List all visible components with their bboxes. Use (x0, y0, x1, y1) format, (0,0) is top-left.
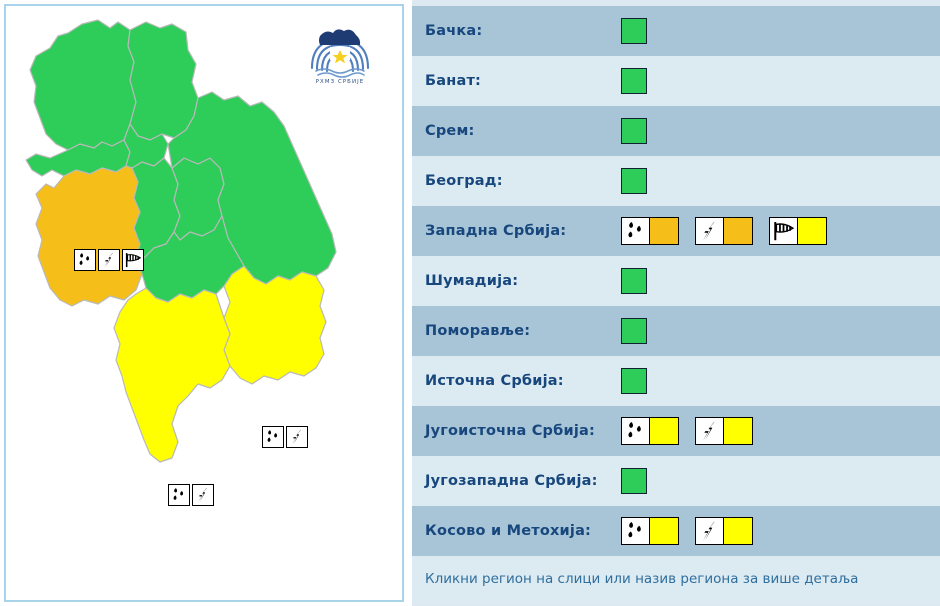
status-badge-no-warning (621, 168, 647, 194)
warning-cells (621, 168, 647, 194)
region-link-западна-србија[interactable]: Западна Србија: (425, 223, 621, 239)
legend-row[interactable]: Шумадија: (412, 256, 940, 306)
legend-row[interactable]: Југоисточна Србија: (412, 406, 940, 456)
warning-cells (621, 217, 827, 245)
warning-badge (621, 217, 679, 245)
region-link-југоисточна-србија[interactable]: Југоисточна Србија: (425, 423, 621, 439)
region-link-срем[interactable]: Срем: (425, 123, 621, 139)
map-region-kosovo[interactable] (114, 288, 230, 462)
thunderstorm-icon (192, 484, 214, 506)
serbia-map[interactable] (6, 6, 402, 600)
warning-level-swatch (650, 518, 678, 544)
legend-row[interactable]: Западна Србија: (412, 206, 940, 256)
warning-level-swatch (650, 218, 678, 244)
warning-cells (621, 68, 647, 94)
region-link-поморавље[interactable]: Поморавље: (425, 323, 621, 339)
rain-icon (262, 426, 284, 448)
status-badge-no-warning (621, 468, 647, 494)
legend-row[interactable]: Банат: (412, 56, 940, 106)
region-link-београд[interactable]: Београд: (425, 173, 621, 189)
legend-row[interactable]: Југозападна Србија: (412, 456, 940, 506)
wind-icon (770, 218, 798, 244)
legend-row[interactable]: Бачка: (412, 6, 940, 56)
status-badge-no-warning (621, 368, 647, 394)
rain-icon (168, 484, 190, 506)
legend-row[interactable]: Косово и Метохија: (412, 506, 940, 556)
rain-icon (74, 249, 96, 271)
region-link-бачка[interactable]: Бачка: (425, 23, 621, 39)
wind-icon (122, 249, 144, 271)
warning-level-swatch (724, 218, 752, 244)
warning-badge (695, 517, 753, 545)
svg-text:РХМЗ СРБИЈЕ: РХМЗ СРБИЈЕ (316, 79, 365, 85)
warning-badge (621, 517, 679, 545)
region-link-шумадија[interactable]: Шумадија: (425, 273, 621, 289)
region-link-источна-србија[interactable]: Источна Србија: (425, 373, 621, 389)
warning-level-swatch (724, 418, 752, 444)
region-legend-list: Бачка:Банат:Срем:Београд:Западна Србија:… (412, 6, 940, 556)
weather-warning-page: РХМЗ СРБИЈЕ (0, 0, 940, 606)
map-overlay-icons-jugoistocna (262, 426, 308, 448)
map-overlay-icons-kosovo (168, 484, 214, 506)
map-region-zapadna[interactable] (36, 166, 142, 306)
legend-row[interactable]: Београд: (412, 156, 940, 206)
warning-cells (621, 18, 647, 44)
status-badge-no-warning (621, 118, 647, 144)
warning-level-swatch (798, 218, 826, 244)
warning-badge (695, 417, 753, 445)
warning-cells (621, 517, 753, 545)
rhmz-serbia-logo: РХМЗ СРБИЈЕ (306, 24, 374, 86)
thunderstorm-icon (98, 249, 120, 271)
warning-cells (621, 368, 647, 394)
legend-row[interactable]: Поморавље: (412, 306, 940, 356)
map-region-jugoistocna[interactable] (224, 266, 326, 384)
status-badge-no-warning (621, 68, 647, 94)
region-link-косово-и-метохија[interactable]: Косово и Метохија: (425, 523, 621, 539)
status-badge-no-warning (621, 18, 647, 44)
warning-level-swatch (724, 518, 752, 544)
rain-icon (622, 418, 650, 444)
rain-icon (622, 218, 650, 244)
thunderstorm-icon (696, 218, 724, 244)
status-badge-no-warning (621, 318, 647, 344)
warning-badge (695, 217, 753, 245)
warning-cells (621, 268, 647, 294)
warning-badge (621, 417, 679, 445)
region-link-банат[interactable]: Банат: (425, 73, 621, 89)
legend-row[interactable]: Источна Србија: (412, 356, 940, 406)
map-frame: РХМЗ СРБИЈЕ (4, 4, 404, 602)
rain-icon (622, 518, 650, 544)
thunderstorm-icon (696, 418, 724, 444)
map-overlay-icons-zapadna (74, 249, 144, 271)
legend-row[interactable]: Срем: (412, 106, 940, 156)
map-region-banat[interactable] (128, 22, 198, 140)
warning-cells (621, 417, 753, 445)
map-panel: РХМЗ СРБИЈЕ (0, 0, 412, 606)
status-badge-no-warning (621, 268, 647, 294)
thunderstorm-icon (286, 426, 308, 448)
warning-cells (621, 318, 647, 344)
map-region-backa[interactable] (30, 20, 136, 150)
warning-level-swatch (650, 418, 678, 444)
region-legend-panel: Бачка:Банат:Срем:Београд:Западна Србија:… (412, 0, 940, 606)
region-link-југозападна-србија[interactable]: Југозападна Србија: (425, 473, 621, 489)
legend-footer-text: Кликни регион на слици или назив региона… (425, 571, 858, 587)
legend-footer: Кликни регион на слици или назив региона… (412, 556, 940, 602)
warning-badge (769, 217, 827, 245)
thunderstorm-icon (696, 518, 724, 544)
warning-cells (621, 468, 647, 494)
warning-cells (621, 118, 647, 144)
